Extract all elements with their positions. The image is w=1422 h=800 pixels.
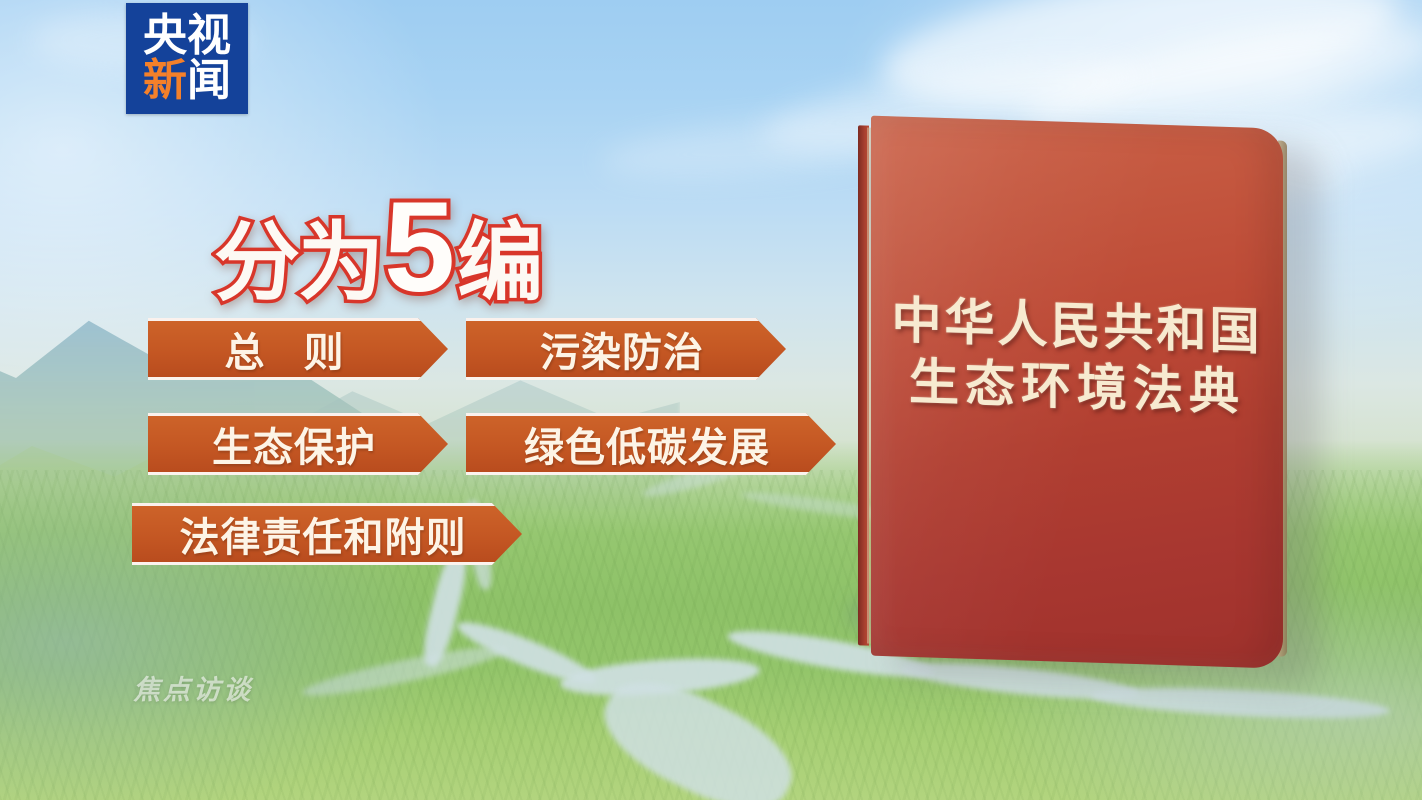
banner-shengtai-baohu[interactable]: 生态保护 (148, 413, 448, 475)
banner-label: 总 则 (206, 320, 389, 378)
banner-label: 绿色低碳发展 (506, 415, 796, 473)
banner-row-2: 生态保护 绿色低碳发展 (148, 413, 836, 475)
law-code-book: 中华人民共和国 生态环境法典 (840, 110, 1310, 670)
chapter-banner-group: 总 则 污染防治 生态保护 绿色低碳发展 法律责任和附则 (0, 0, 860, 620)
news-graphic-stage: 央视 新闻 分为 5 编 总 则 污染防治 生态保护 绿色低碳发展 (0, 0, 1422, 800)
banner-wuran-fangzhi[interactable]: 污染防治 (466, 318, 786, 380)
banner-label: 法律责任和附则 (162, 505, 493, 563)
book-body: 中华人民共和国 生态环境法典 (858, 111, 1286, 670)
banner-label: 污染防治 (522, 320, 730, 378)
banner-lvse-ditan-fazhan[interactable]: 绿色低碳发展 (466, 413, 836, 475)
program-watermark: 焦点访谈 (133, 668, 253, 707)
banner-gap (448, 413, 466, 475)
book-cover-title: 中华人民共和国 生态环境法典 (871, 290, 1283, 425)
banner-falv-zeren-he-fuze[interactable]: 法律责任和附则 (132, 503, 522, 565)
banner-row-1: 总 则 污染防治 (148, 318, 786, 380)
banner-label: 生态保护 (194, 415, 402, 473)
book-title-line-2: 生态环境法典 (871, 351, 1283, 425)
banner-zongze[interactable]: 总 则 (148, 318, 448, 380)
banner-row-3: 法律责任和附则 (132, 503, 522, 565)
banner-gap (448, 318, 466, 380)
